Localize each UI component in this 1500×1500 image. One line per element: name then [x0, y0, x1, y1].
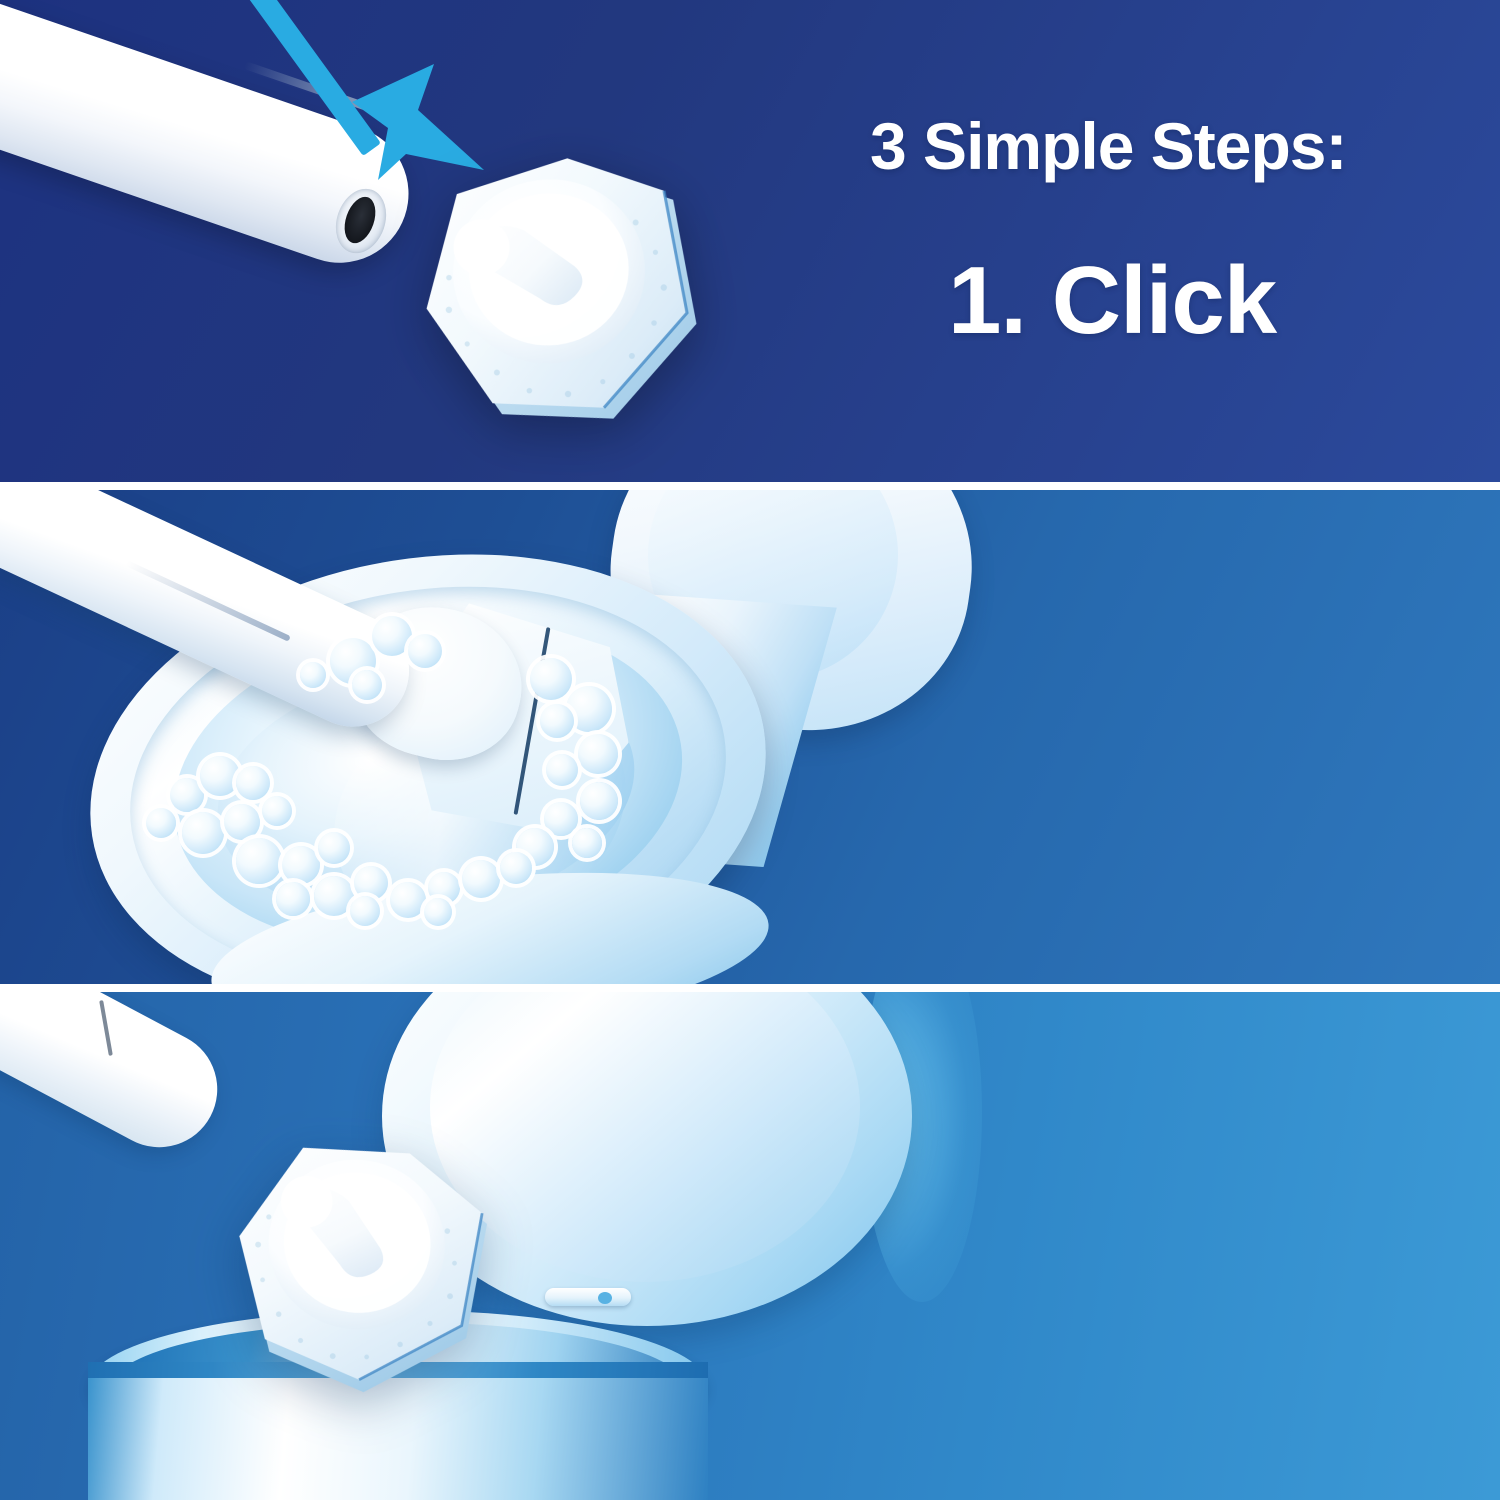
panel-step-3: 3. Toss — [0, 992, 1500, 1500]
panel-divider-1 — [0, 482, 1500, 490]
step-1-label: 1. Click — [948, 246, 1276, 356]
panel-divider-2 — [0, 984, 1500, 992]
lid-hinge-icon — [545, 1288, 631, 1306]
page-title: 3 Simple Steps: — [870, 108, 1347, 184]
wand-tip-icon — [0, 992, 238, 1168]
panel-step-1: 3 Simple Steps: 1. Click — [0, 0, 1500, 482]
hex-pad-icon — [372, 99, 753, 482]
product-instruction-infographic: 3 Simple Steps: 1. Click — [0, 0, 1500, 1500]
panel-step-2: 2. Swish — [0, 490, 1500, 984]
lid-hinge-pin-icon — [598, 1292, 612, 1304]
